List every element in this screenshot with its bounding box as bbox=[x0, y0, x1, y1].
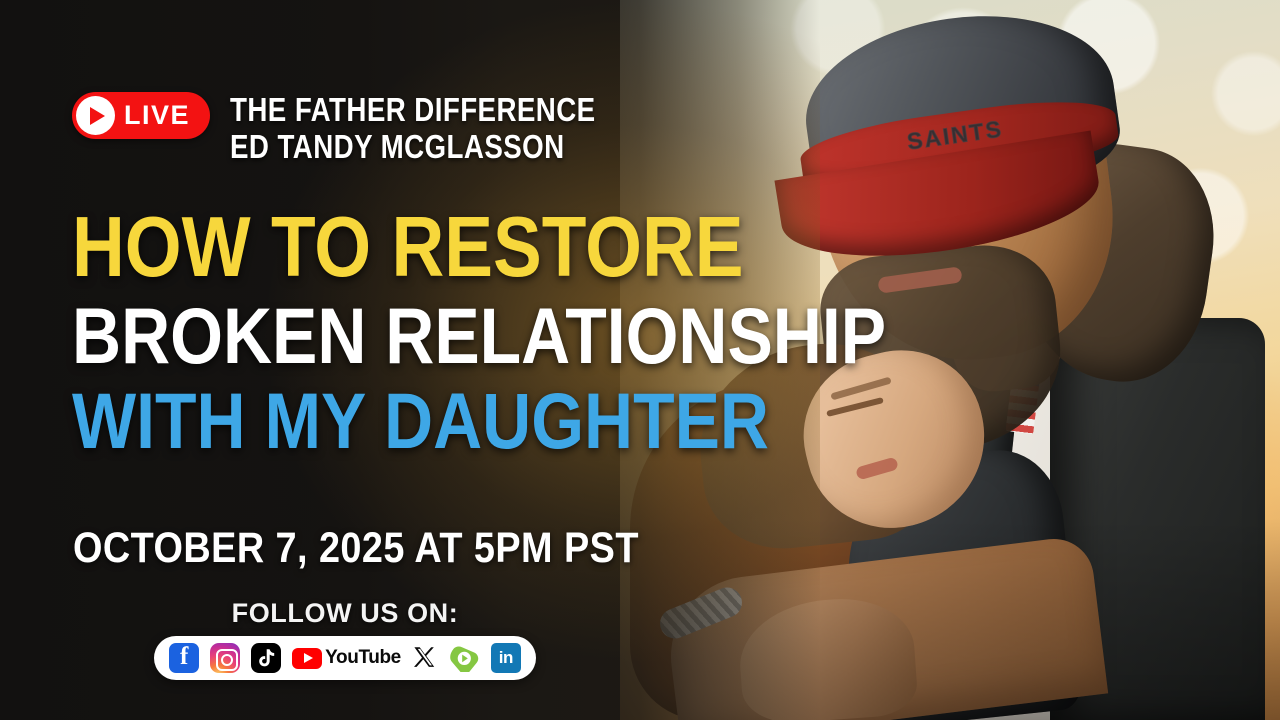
livestream-promo-poster: SAINTS LIVE THE FATHER DIFFERENCE ED TAN bbox=[0, 0, 1280, 720]
tiktok-link[interactable] bbox=[251, 643, 281, 673]
facebook-icon: f bbox=[169, 643, 199, 673]
youtube-wordmark: YouTube bbox=[325, 647, 401, 669]
play-icon bbox=[76, 96, 115, 135]
youtube-play-triangle bbox=[304, 653, 313, 663]
header-row: LIVE THE FATHER DIFFERENCE ED TANDY MCGL… bbox=[72, 92, 712, 166]
follow-label: FOLLOW US ON: bbox=[0, 598, 690, 629]
headline-block: HOW TO RESTORE BROKEN RELATIONSHIP WITH … bbox=[72, 205, 772, 460]
instagram-link[interactable] bbox=[210, 643, 240, 673]
linkedin-link[interactable]: in bbox=[491, 643, 521, 673]
youtube-link[interactable]: YouTube bbox=[292, 647, 401, 669]
x-twitter-icon bbox=[412, 645, 438, 671]
rumble-link[interactable] bbox=[449, 645, 480, 672]
headline-line-2: BROKEN RELATIONSHIP bbox=[72, 296, 674, 375]
play-triangle bbox=[90, 107, 105, 125]
live-badge-label: LIVE bbox=[124, 102, 190, 129]
event-datetime: OCTOBER 7, 2025 AT 5PM PST bbox=[73, 524, 639, 573]
headline-line-1: HOW TO RESTORE bbox=[72, 205, 674, 290]
linkedin-icon: in bbox=[491, 643, 521, 673]
facebook-link[interactable]: f bbox=[169, 643, 199, 673]
show-info: THE FATHER DIFFERENCE ED TANDY MCGLASSON bbox=[230, 92, 665, 166]
social-icons-bar: f YouTube bbox=[154, 636, 536, 680]
host-name: ED TANDY MCGLASSON bbox=[230, 129, 596, 166]
youtube-icon bbox=[292, 648, 322, 669]
follow-block: FOLLOW US ON: f bbox=[0, 598, 690, 680]
rumble-icon bbox=[449, 645, 480, 672]
x-twitter-link[interactable] bbox=[412, 645, 438, 671]
live-badge[interactable]: LIVE bbox=[72, 92, 210, 139]
program-title: THE FATHER DIFFERENCE bbox=[230, 92, 596, 129]
poster-content: LIVE THE FATHER DIFFERENCE ED TANDY MCGL… bbox=[0, 0, 760, 720]
instagram-icon bbox=[210, 643, 240, 673]
tiktok-icon bbox=[251, 643, 281, 673]
headline-line-3: WITH MY DAUGHTER bbox=[72, 381, 674, 460]
